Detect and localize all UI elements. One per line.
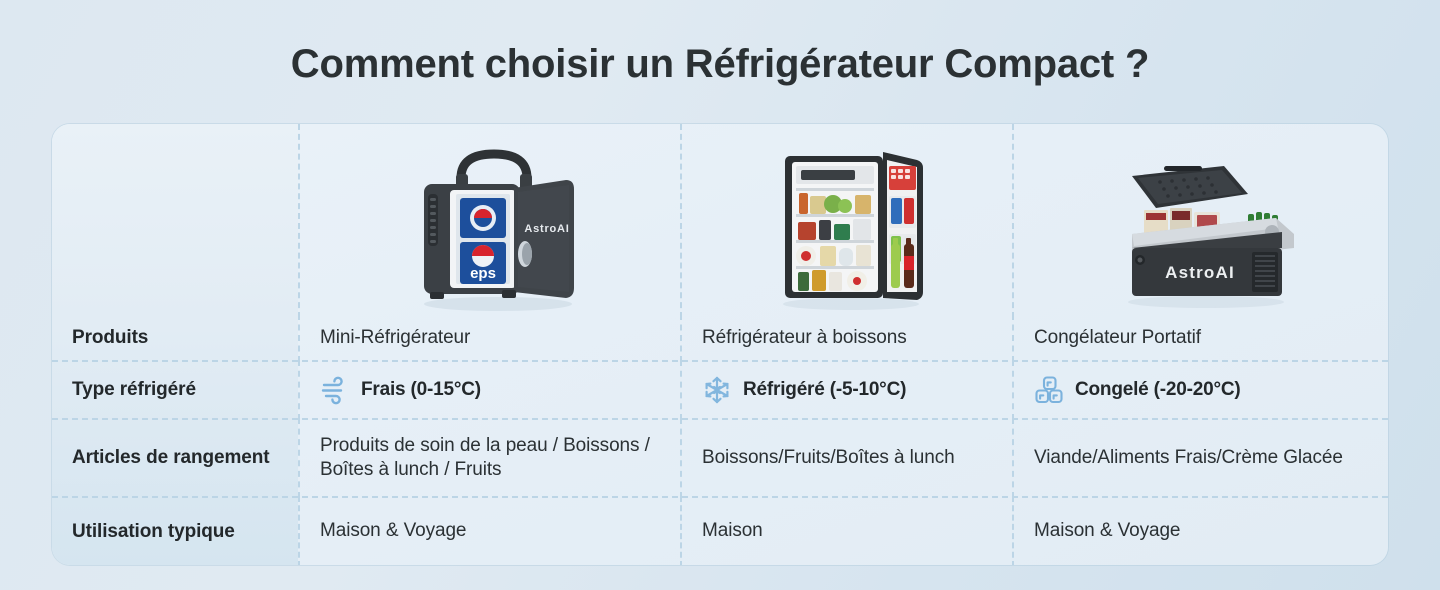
usage-text: Maison & Voyage	[1034, 519, 1180, 543]
svg-text:AstroAI: AstroAI	[1165, 263, 1235, 282]
product-name: Congélateur Portatif	[1034, 326, 1201, 350]
type-cell-1: Frais (0-15°C)	[298, 362, 680, 418]
type-cell-2: Réfrigéré (-5-10°C)	[680, 362, 1012, 418]
table-row-products: Produits Mini-Réfrigérateur Réfrigérateu…	[52, 316, 1388, 362]
ice-cubes-icon	[1034, 375, 1064, 405]
type-label: Réfrigéré (-5-10°C)	[743, 379, 906, 401]
usage-cell-3: Maison & Voyage	[1012, 498, 1388, 565]
wind-icon	[320, 375, 350, 405]
beverage-fridge-cell	[680, 124, 1012, 316]
type-label: Frais (0-15°C)	[361, 379, 481, 401]
product-name-cell-2: Réfrigérateur à boissons	[680, 316, 1012, 360]
usage-cell-1: Maison & Voyage	[298, 498, 680, 565]
storage-cell-2: Boissons/Fruits/Boîtes à lunch	[680, 420, 1012, 496]
mini-fridge-cell: eps AstroAI	[298, 124, 680, 316]
storage-text: Produits de soin de la peau / Boissons /…	[320, 434, 668, 483]
table-row-usage: Utilisation typique Maison & Voyage Mais…	[52, 498, 1388, 565]
storage-text: Viande/Aliments Frais/Crème Glacée	[1034, 446, 1343, 470]
beverage-fridge-image	[702, 124, 1000, 316]
row-label-type: Type réfrigéré	[52, 362, 298, 418]
mini-fridge-image: eps AstroAI	[320, 124, 668, 316]
snowflake-icon	[702, 375, 732, 405]
usage-text: Maison & Voyage	[320, 519, 466, 543]
product-name: Mini-Réfrigérateur	[320, 326, 470, 350]
row-label-text: Type réfrigéré	[72, 379, 196, 401]
row-label-storage: Articles de rangement	[52, 420, 298, 496]
type-cell-3: Congelé (-20-20°C)	[1012, 362, 1388, 418]
usage-cell-2: Maison	[680, 498, 1012, 565]
storage-cell-3: Viande/Aliments Frais/Crème Glacée	[1012, 420, 1388, 496]
row-label-empty	[52, 124, 298, 316]
storage-cell-1: Produits de soin de la peau / Boissons /…	[298, 420, 680, 496]
row-label-usage: Utilisation typique	[52, 498, 298, 565]
page-title: Comment choisir un Réfrigérateur Compact…	[0, 0, 1440, 86]
portable-freezer-image: AstroAI	[1034, 124, 1376, 316]
table-row-storage: Articles de rangement Produits de soin d…	[52, 420, 1388, 498]
product-name: Réfrigérateur à boissons	[702, 326, 907, 350]
row-label-produits: Produits	[52, 316, 298, 360]
row-label-text: Articles de rangement	[72, 447, 269, 469]
svg-text:eps: eps	[470, 265, 496, 282]
type-label: Congelé (-20-20°C)	[1075, 379, 1241, 401]
table-row-type: Type réfrigéré Frais (0-15°C)	[52, 362, 1388, 420]
comparison-table: eps AstroAI	[52, 124, 1388, 565]
svg-text:AstroAI: AstroAI	[524, 223, 569, 235]
row-label-text: Produits	[72, 327, 148, 349]
product-name-cell-1: Mini-Réfrigérateur	[298, 316, 680, 360]
portable-freezer-cell: AstroAI	[1012, 124, 1388, 316]
storage-text: Boissons/Fruits/Boîtes à lunch	[702, 446, 955, 470]
product-name-cell-3: Congélateur Portatif	[1012, 316, 1388, 360]
table-row-images: eps AstroAI	[52, 124, 1388, 316]
usage-text: Maison	[702, 519, 763, 543]
row-label-text: Utilisation typique	[72, 521, 235, 543]
